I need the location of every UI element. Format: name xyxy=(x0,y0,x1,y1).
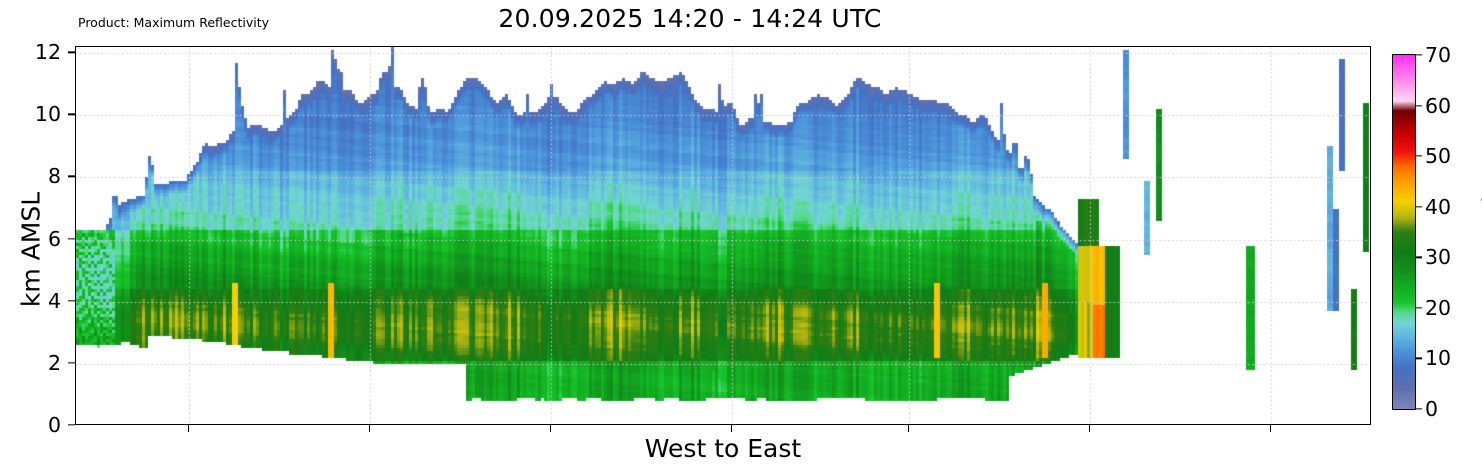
colorbar-tick-mark xyxy=(1415,206,1422,207)
colorbar-tick-label: 40 xyxy=(1425,195,1451,219)
y-tick-mark xyxy=(68,424,75,425)
colorbar-tick-mark xyxy=(1415,105,1422,106)
colorbar-tick-label: 70 xyxy=(1425,43,1451,67)
colorbar-tick-label: 30 xyxy=(1425,245,1451,269)
colorbar-tick-mark xyxy=(1415,257,1422,258)
colorbar-tick-mark xyxy=(1415,358,1422,359)
colorbar: dBZ 010203040506070 xyxy=(1392,54,1482,409)
y-tick-label: 6 xyxy=(48,227,61,251)
colorbar-tick-label: 0 xyxy=(1425,397,1438,421)
x-tick-mark xyxy=(188,425,189,432)
colorbar-tick-mark xyxy=(1415,307,1422,308)
x-tick-mark xyxy=(731,425,732,432)
y-tick-label: 10 xyxy=(35,102,61,126)
y-axis: km AMSL 024681012 xyxy=(0,0,75,470)
page-title: 20.09.2025 14:20 - 14:24 UTC xyxy=(0,4,1380,33)
y-tick-mark xyxy=(68,362,75,363)
colorbar-tick-mark xyxy=(1415,408,1422,409)
radar-cross-section-figure: Product: Maximum Reflectivity 20.09.2025… xyxy=(0,0,1482,470)
reflectivity-heatmap xyxy=(76,47,1371,425)
y-tick-mark xyxy=(68,300,75,301)
colorbar-tick-mark xyxy=(1415,155,1422,156)
colorbar-tick-label: 60 xyxy=(1425,94,1451,118)
y-tick-mark xyxy=(68,52,75,53)
x-tick-mark xyxy=(1089,425,1090,432)
y-tick-label: 12 xyxy=(35,40,61,64)
y-tick-label: 0 xyxy=(48,413,61,437)
x-tick-mark xyxy=(908,425,909,432)
x-tick-mark xyxy=(1270,425,1271,432)
y-tick-label: 8 xyxy=(48,164,61,188)
colorbar-tick-label: 10 xyxy=(1425,346,1451,370)
y-tick-mark xyxy=(68,176,75,177)
colorbar-tick-mark xyxy=(1415,54,1422,55)
y-tick-mark xyxy=(68,238,75,239)
plot-area xyxy=(75,46,1371,425)
y-tick-mark xyxy=(68,114,75,115)
y-tick-label: 4 xyxy=(48,289,61,313)
x-tick-mark xyxy=(550,425,551,432)
x-tick-mark xyxy=(369,425,370,432)
y-tick-label: 2 xyxy=(48,351,61,375)
y-axis-title: km AMSL xyxy=(17,170,46,330)
colorbar-tick-label: 50 xyxy=(1425,144,1451,168)
colorbar-tick-label: 20 xyxy=(1425,296,1451,320)
colorbar-gradient xyxy=(1392,54,1416,410)
x-axis-title: West to East xyxy=(75,434,1371,463)
